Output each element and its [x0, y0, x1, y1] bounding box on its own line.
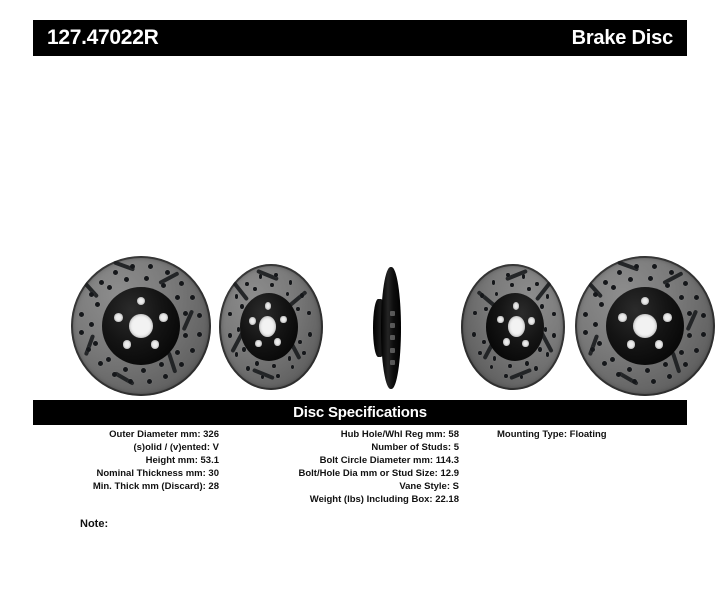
- rotor-center-bore: [259, 316, 277, 337]
- spec-row: Outer Diameter mm: 326: [109, 428, 219, 441]
- rotor-lug-hole: [497, 316, 503, 324]
- rotor-lug-hole: [114, 313, 123, 322]
- spec-column-left: Outer Diameter mm: 326 (s)olid / (v)ente…: [33, 428, 243, 506]
- rotor-lug-hole: [663, 313, 672, 322]
- rotor-lug-hole: [513, 302, 519, 310]
- rotor-lug-hole: [522, 340, 528, 348]
- rotor-lug-hole: [627, 340, 636, 349]
- rotor-lug-hole: [274, 338, 280, 346]
- spec-value: Floating: [570, 429, 607, 440]
- rotor-lug-hole: [618, 313, 627, 322]
- note-label: Note:: [80, 518, 108, 530]
- spec-label: Outer Diameter mm:: [109, 429, 200, 440]
- spec-label: Vane Style:: [399, 481, 450, 492]
- rotor-front-right-image: [575, 256, 715, 396]
- spec-value: 53.1: [201, 455, 220, 466]
- spec-label: (s)olid / (v)ented:: [133, 442, 210, 453]
- spec-value: 114.3: [436, 455, 459, 466]
- rotor-vane: [390, 323, 394, 328]
- product-image-row: [33, 252, 687, 400]
- spec-label: Hub Hole/Whl Reg mm:: [341, 429, 446, 440]
- rotor-lug-hole: [159, 313, 168, 322]
- product-type-label: Brake Disc: [572, 27, 673, 50]
- spec-table: Outer Diameter mm: 326 (s)olid / (v)ente…: [33, 428, 687, 506]
- spec-row: Min. Thick mm (Discard): 28: [93, 480, 219, 493]
- spec-title-bar: Disc Specifications: [33, 400, 687, 425]
- rotor-lug-hole: [249, 317, 255, 325]
- spec-row: Bolt/Hole Dia mm or Stud Size: 12.9: [299, 467, 460, 480]
- spec-row: Hub Hole/Whl Reg mm: 58: [341, 428, 459, 441]
- rotor-lug-hole: [255, 340, 261, 348]
- spec-row: Height mm: 53.1: [146, 454, 219, 467]
- spec-row: Weight (lbs) Including Box: 22.18: [310, 493, 459, 506]
- spec-row: Nominal Thickness mm: 30: [97, 467, 220, 480]
- spec-label: Bolt/Hole Dia mm or Stud Size:: [299, 468, 438, 479]
- spec-label: Nominal Thickness mm:: [97, 468, 206, 479]
- spec-label: Bolt Circle Diameter mm:: [320, 455, 434, 466]
- rotor-lug-hole: [123, 340, 132, 349]
- spec-value: 12.9: [441, 468, 460, 479]
- rotor-center-bore: [633, 314, 657, 338]
- spec-label: Height mm:: [146, 455, 198, 466]
- rotor-front-left-image: [71, 256, 211, 396]
- spec-column-right: Mounting Type: Floating: [487, 428, 687, 506]
- rotor-vane: [390, 348, 394, 353]
- rotor-lug-hole: [655, 340, 664, 349]
- rotor-lug-hole: [280, 316, 286, 324]
- spec-value: S: [453, 481, 459, 492]
- spec-label: Number of Studs:: [371, 442, 451, 453]
- spec-value: 5: [454, 442, 459, 453]
- rotor-vane: [390, 311, 394, 316]
- rotor-edge-profile-image: [381, 267, 401, 389]
- rotor-lug-hole: [528, 317, 534, 325]
- spec-label: Min. Thick mm (Discard):: [93, 481, 206, 492]
- rotor-center-bore: [129, 314, 153, 338]
- header-bar: 127.47022R Brake Disc: [33, 20, 687, 56]
- spec-value: 58: [448, 429, 459, 440]
- rotor-angled-right-image: [461, 264, 565, 390]
- rotor-vane: [390, 360, 394, 365]
- spec-value: 30: [208, 468, 219, 479]
- spec-value: 28: [208, 481, 219, 492]
- rotor-vane: [390, 335, 394, 340]
- spec-value: 326: [203, 429, 219, 440]
- spec-title: Disc Specifications: [293, 404, 427, 421]
- spec-row: Mounting Type: Floating: [497, 428, 607, 441]
- note-area: Note:: [80, 518, 234, 530]
- rotor-angled-left-image: [219, 264, 323, 390]
- spec-label: Weight (lbs) Including Box:: [310, 494, 433, 505]
- rotor-lug-hole: [503, 338, 509, 346]
- rotor-lug-hole: [151, 340, 160, 349]
- part-number: 127.47022R: [47, 26, 158, 50]
- spec-label: Mounting Type:: [497, 429, 567, 440]
- spec-column-middle: Hub Hole/Whl Reg mm: 58 Number of Studs:…: [243, 428, 487, 506]
- spec-row: Vane Style: S: [399, 480, 459, 493]
- spec-row: Number of Studs: 5: [371, 441, 459, 454]
- spec-value: 22.18: [435, 494, 459, 505]
- rotor-lug-hole: [265, 302, 271, 310]
- spec-value: V: [213, 442, 219, 453]
- spec-row: Bolt Circle Diameter mm: 114.3: [320, 454, 459, 467]
- spec-row: (s)olid / (v)ented: V: [133, 441, 219, 454]
